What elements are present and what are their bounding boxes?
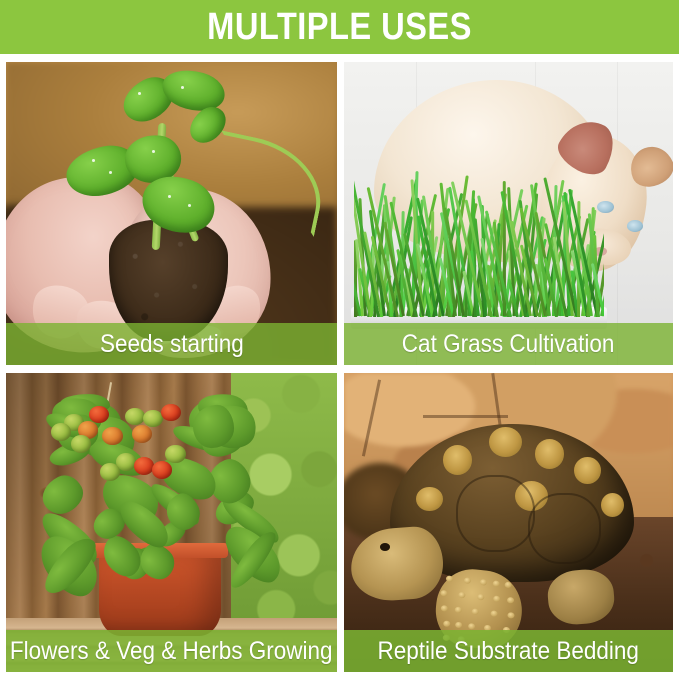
caption-label: Seeds starting bbox=[100, 332, 244, 357]
photo-tortoise-on-substrate bbox=[344, 373, 673, 672]
photo-seedling-in-hands bbox=[6, 62, 337, 365]
panel-flowers-veg-herbs: Flowers & Veg & Herbs Growing bbox=[6, 373, 337, 672]
photo-cat-eating-grass bbox=[344, 62, 673, 365]
tomato-fruit bbox=[71, 435, 91, 453]
tomato-fruit bbox=[161, 404, 181, 422]
multiple-uses-infographic: MULTIPLE USES bbox=[0, 0, 679, 676]
caption-label: Flowers & Veg & Herbs Growing bbox=[10, 639, 333, 664]
caption-label: Cat Grass Cultivation bbox=[402, 332, 615, 357]
panel-caption-bar: Reptile Substrate Bedding bbox=[344, 630, 673, 672]
tomato-fruit bbox=[165, 445, 185, 463]
panel-seeds-starting: Seeds starting bbox=[6, 62, 337, 365]
panel-reptile-substrate: Reptile Substrate Bedding bbox=[344, 373, 673, 672]
tomato-fruit bbox=[102, 427, 122, 445]
tomato-plant bbox=[26, 382, 251, 579]
tomato-fruit bbox=[152, 461, 172, 479]
tomato-fruit bbox=[134, 457, 154, 475]
photo-tomato-plant-in-pot bbox=[6, 373, 337, 672]
cat-grass-clump bbox=[354, 147, 604, 317]
tomato-fruit bbox=[132, 425, 152, 443]
caption-label: Reptile Substrate Bedding bbox=[378, 639, 639, 664]
panel-cat-grass-cultivation: Cat Grass Cultivation bbox=[344, 62, 673, 365]
cat-eye bbox=[627, 220, 643, 232]
panel-caption-bar: Seeds starting bbox=[6, 323, 337, 365]
page-title: MULTIPLE USES bbox=[48, 0, 632, 54]
panel-caption-bar: Cat Grass Cultivation bbox=[344, 323, 673, 365]
panel-caption-bar: Flowers & Veg & Herbs Growing bbox=[6, 630, 337, 672]
tomato-leaf bbox=[36, 470, 88, 520]
tomato-fruit bbox=[51, 423, 71, 441]
use-case-grid: Seeds starting Cat Grass Cult bbox=[6, 62, 673, 672]
tomato-fruit bbox=[100, 463, 120, 481]
header-banner: MULTIPLE USES bbox=[0, 0, 679, 54]
